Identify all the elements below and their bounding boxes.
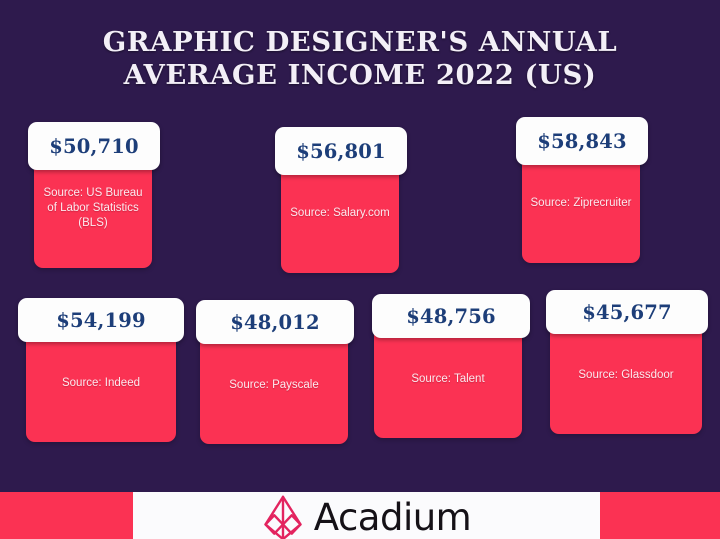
card-value-box: $45,677: [546, 290, 708, 334]
income-card-ziprecruiter: Source: Ziprecruiter $58,843: [516, 117, 648, 263]
income-card-payscale: Source: Payscale $48,012: [196, 300, 354, 444]
card-value-box: $58,843: [516, 117, 648, 165]
card-value: $54,199: [56, 309, 146, 332]
title-line-2: AVERAGE INCOME 2022 (US): [0, 59, 720, 92]
card-value-box: $50,710: [28, 122, 160, 170]
card-value-box: $48,012: [196, 300, 354, 344]
card-source-label: Source: Payscale: [221, 378, 327, 393]
card-value: $56,801: [296, 140, 386, 163]
acadium-diamond-logo-icon: [262, 491, 304, 539]
title-line-1: GRAPHIC DESIGNER'S ANNUAL: [0, 26, 720, 59]
card-source-label: Source: Glassdoor: [570, 368, 681, 383]
card-source-label: Source: Salary.com: [282, 206, 398, 221]
card-source-label: Source: Talent: [403, 372, 492, 387]
card-source-label: Source: Indeed: [54, 376, 148, 391]
card-source-label: Source: US Bureau of Labor Statistics (B…: [34, 186, 152, 231]
card-value-box: $48,756: [372, 294, 530, 338]
card-value: $50,710: [49, 135, 139, 158]
income-card-bls: Source: US Bureau of Labor Statistics (B…: [28, 122, 160, 268]
card-value: $48,012: [230, 311, 320, 334]
card-value: $45,677: [582, 301, 672, 324]
card-value: $58,843: [537, 130, 627, 153]
card-value: $48,756: [406, 305, 496, 328]
income-card-talent: Source: Talent $48,756: [372, 294, 530, 438]
income-card-glassdoor: Source: Glassdoor $45,677: [546, 290, 708, 438]
income-card-salary-com: Source: Salary.com $56,801: [275, 127, 407, 273]
footer-brand-panel: Acadium: [133, 492, 600, 539]
infographic-canvas: GRAPHIC DESIGNER'S ANNUAL AVERAGE INCOME…: [0, 0, 720, 539]
brand-wordmark: Acadium: [314, 499, 471, 536]
page-title: GRAPHIC DESIGNER'S ANNUAL AVERAGE INCOME…: [0, 26, 720, 92]
card-value-box: $56,801: [275, 127, 407, 175]
card-value-box: $54,199: [18, 298, 184, 342]
card-source-label: Source: Ziprecruiter: [523, 196, 640, 211]
income-card-indeed: Source: Indeed $54,199: [18, 298, 184, 442]
